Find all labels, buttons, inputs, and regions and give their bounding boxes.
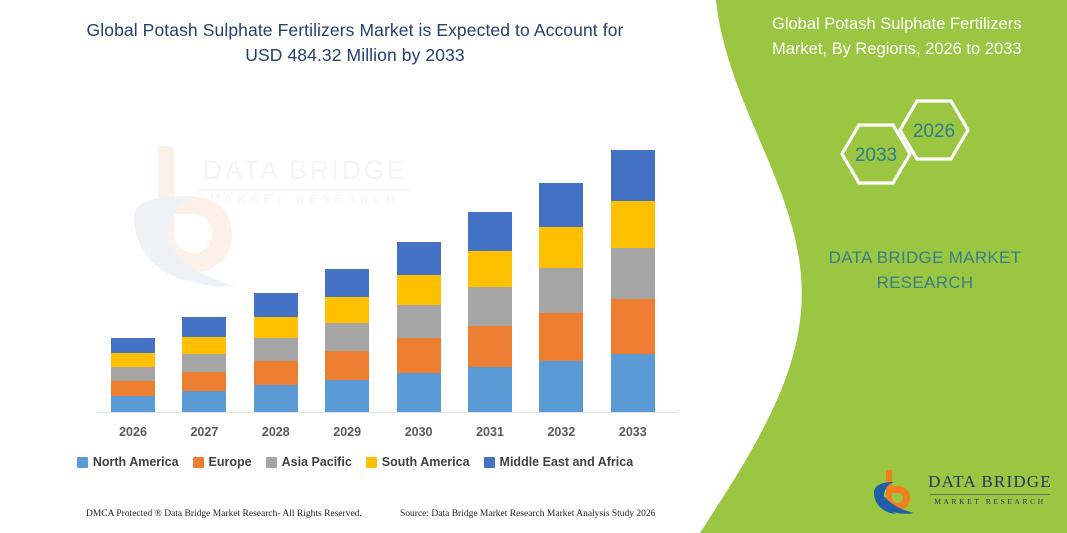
bar-segment [468,212,512,251]
bar-segment [182,391,226,412]
legend-swatch-icon [366,457,377,468]
bar-segment [111,338,155,353]
legend-item[interactable]: Middle East and Africa [484,455,634,469]
legend-item[interactable]: Europe [193,455,252,469]
legend-item[interactable]: North America [77,455,179,469]
legend-item[interactable]: Asia Pacific [266,455,352,469]
bar-segment [111,367,155,381]
bar-segment [611,150,655,201]
x-axis-label: 2033 [598,425,668,439]
bar-segment [254,338,298,361]
bar-segment [111,396,155,412]
bar-segment [539,361,583,412]
green-panel-title: Global Potash Sulphate Fertilizers Marke… [772,12,1062,62]
bar-segment [254,293,298,317]
bar-segment [111,381,155,396]
bar-segment [111,353,155,367]
bar-segment [254,361,298,385]
bar-segment [397,338,441,373]
chart-panel: Global Potash Sulphate Fertilizers Marke… [0,0,710,533]
bar-segment [611,248,655,299]
footer-copyright: DMCA Protected ® Data Bridge Market Rese… [86,509,362,519]
hexagon-year-badges: 2033 2026 [828,92,998,207]
x-axis-label: 2026 [98,425,168,439]
x-axis-label: 2030 [384,425,454,439]
bar-segment [254,385,298,412]
bar-segment [539,183,583,227]
x-axis-label: 2029 [312,425,382,439]
x-axis-label: 2032 [526,425,596,439]
bar-segment [468,251,512,287]
bar-segment [325,269,369,297]
footer-source: Source: Data Bridge Market Research Mark… [400,509,655,519]
legend-label: North America [93,455,179,469]
bar-segment [611,299,655,354]
x-axis-line [96,412,678,413]
bar-segment [182,354,226,372]
legend-swatch-icon [266,457,277,468]
hexagon-2033-label: 2033 [855,145,897,166]
stacked-bar-plot: 20262027202820292030203120322033 [0,0,710,533]
bar-segment [397,242,441,275]
x-axis-label: 2027 [169,425,239,439]
chart-legend: North AmericaEuropeAsia PacificSouth Ame… [0,455,710,469]
data-bridge-logo-mark-icon [872,468,924,514]
legend-label: Asia Pacific [282,455,352,469]
bar-segment [397,373,441,412]
logo-wordmark: DATA BRIDGE MARKET RESEARCH [928,472,1052,506]
bar-segment [325,351,369,380]
logo-sub-text: MARKET RESEARCH [928,497,1052,506]
x-axis-label: 2028 [241,425,311,439]
bar-segment [325,297,369,323]
legend-label: Middle East and Africa [500,455,634,469]
bar-segment [468,367,512,412]
legend-swatch-icon [484,457,495,468]
hexagon-2026-label: 2026 [913,121,955,142]
bar-segment [539,313,583,361]
bar-segment [325,380,369,412]
bar-segment [539,268,583,313]
bar-segment [182,317,226,337]
legend-label: Europe [209,455,252,469]
infographic-canvas: Global Potash Sulphate Fertilizers Marke… [0,0,1067,533]
bar-segment [611,201,655,248]
green-panel-brand: DATA BRIDGE MARKET RESEARCH [800,245,1050,295]
bar-segment [539,227,583,268]
legend-item[interactable]: South America [366,455,470,469]
bar-segment [254,317,298,338]
x-axis-label: 2031 [455,425,525,439]
bar-segment [397,305,441,338]
green-brand-line2: RESEARCH [800,270,1050,295]
legend-label: South America [382,455,470,469]
legend-swatch-icon [77,457,88,468]
bar-segment [325,323,369,351]
bar-segment [468,326,512,367]
logo-divider [930,494,1050,495]
bar-segment [182,337,226,354]
green-brand-line1: DATA BRIDGE MARKET [800,245,1050,270]
bar-segment [468,287,512,326]
bar-segment [611,354,655,412]
legend-swatch-icon [193,457,204,468]
bar-segment [397,275,441,305]
data-bridge-logo: DATA BRIDGE MARKET RESEARCH [872,468,1052,514]
logo-main-text: DATA BRIDGE [928,472,1052,492]
bar-segment [182,372,226,391]
